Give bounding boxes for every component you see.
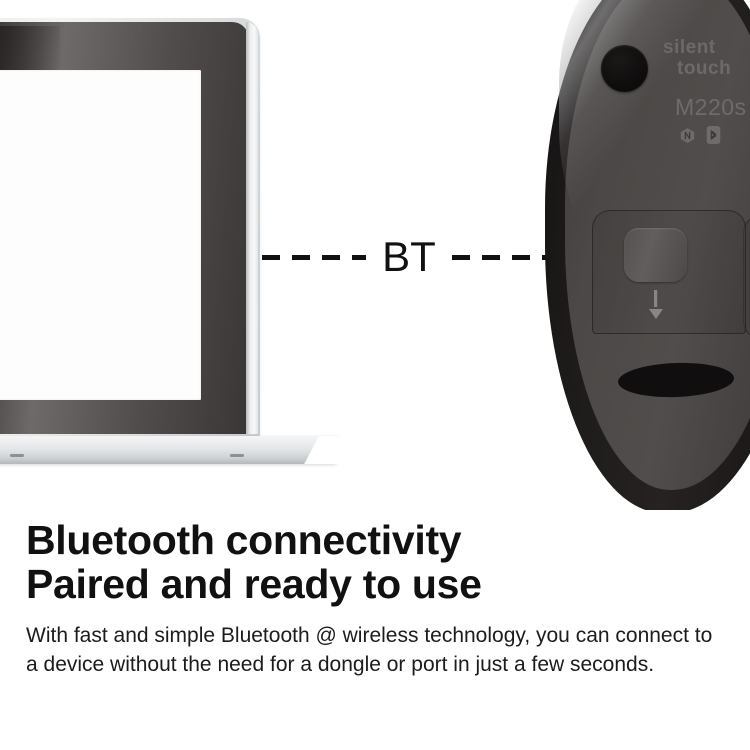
silent-touch-word-2: touch xyxy=(677,59,731,78)
marketing-copy-block: Bluetooth connectivity Paired and ready … xyxy=(0,510,750,750)
dashed-link-right xyxy=(452,255,556,260)
laptop-base xyxy=(0,436,340,464)
mouse-underside: silent touch M220s ⟲ xyxy=(545,0,750,510)
laptop-lid xyxy=(0,18,260,438)
dashed-link-left xyxy=(262,255,366,260)
silent-touch-word-1: silent xyxy=(663,38,716,57)
mouse-branding: silent touch M220s xyxy=(663,36,750,144)
battery-release-arrow-icon xyxy=(647,290,665,320)
mouse-sensor-hole xyxy=(601,45,648,92)
laptop-base-vent-left xyxy=(10,454,24,457)
bluetooth-icon xyxy=(706,126,721,144)
battery-door-latch xyxy=(624,228,687,282)
bluetooth-link-indicator: BT xyxy=(262,228,556,286)
bt-label: BT xyxy=(375,236,443,278)
page-title: Bluetooth connectivity Paired and ready … xyxy=(26,518,724,607)
silent-touch-logo: silent touch xyxy=(663,36,750,84)
laptop-base-vent-right xyxy=(230,454,244,457)
laptop-bezel-shadow xyxy=(0,26,60,70)
laptop-base-taper-mask xyxy=(290,436,346,464)
body-copy: With fast and simple Bluetooth @ wireles… xyxy=(26,621,716,681)
mouse-model-label: M220s xyxy=(675,96,750,119)
headline-line-1: Bluetooth connectivity xyxy=(26,518,724,562)
product-illustration-stage: BT silent touch M220s xyxy=(0,0,750,510)
mouse-badge-row xyxy=(679,126,750,144)
laptop-lid-edge xyxy=(246,22,258,434)
headline-line-2: Paired and ready to use xyxy=(26,562,724,606)
laptop-bezel xyxy=(0,22,249,434)
nfc-icon xyxy=(679,127,696,144)
laptop-screen xyxy=(0,70,201,400)
